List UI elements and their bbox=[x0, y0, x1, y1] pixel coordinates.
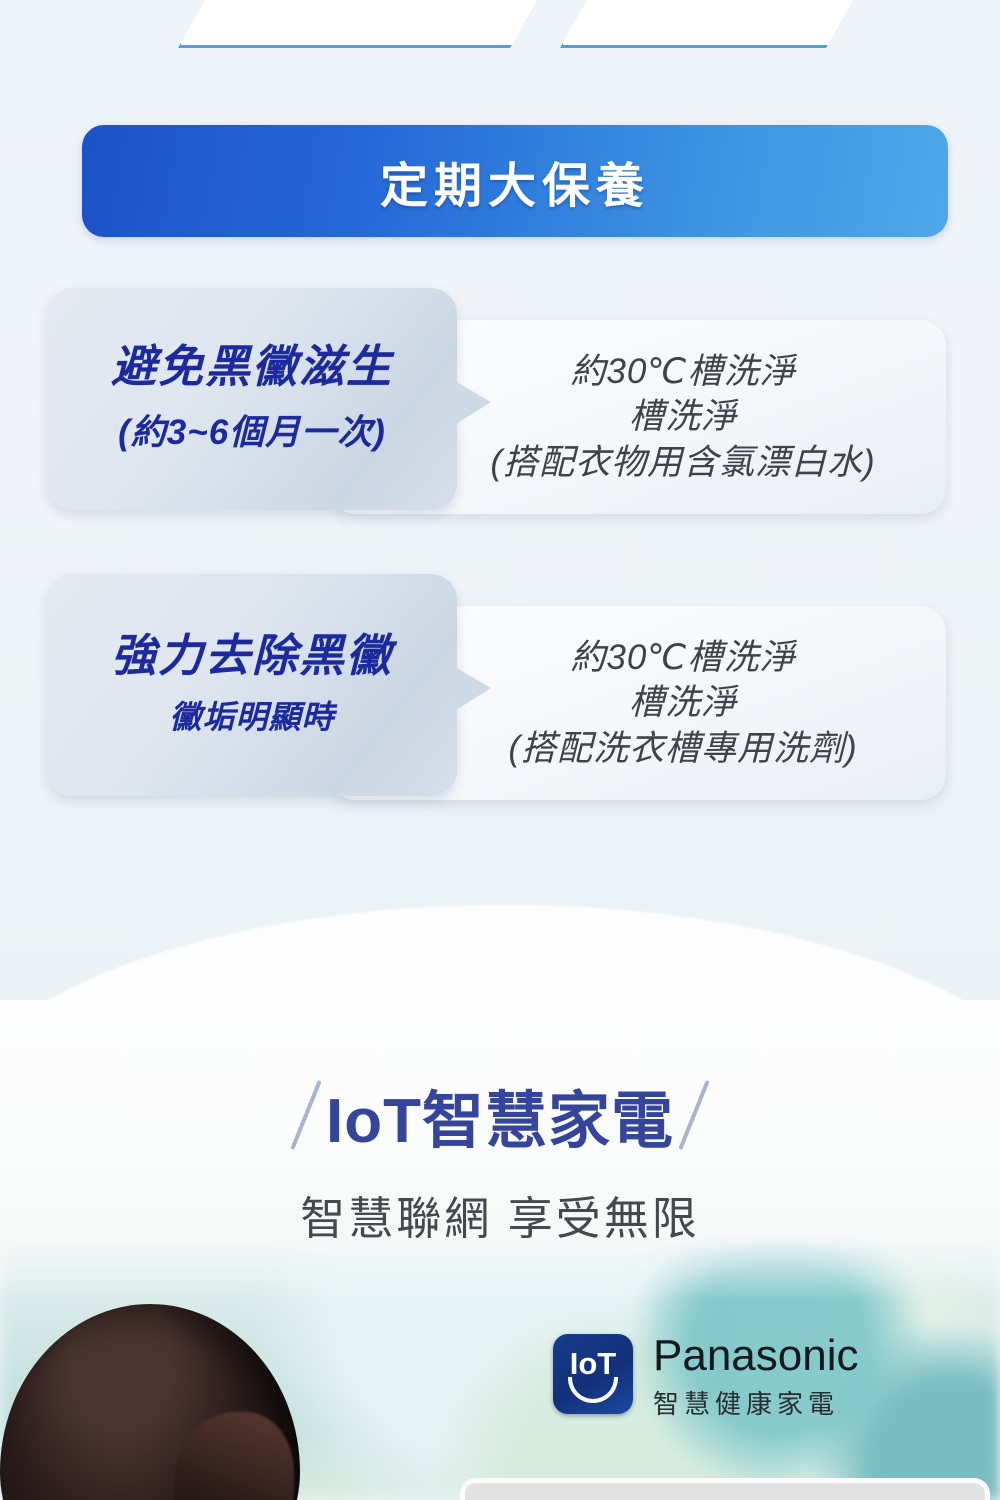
detail-line: 槽洗淨 bbox=[629, 394, 737, 440]
maintenance-title: 強力去除黑黴 bbox=[111, 632, 393, 681]
process-tab-spray-tub-wash[interactable]: 噴射槽洗行程 bbox=[178, 0, 544, 48]
iot-heading-subtitle: 智慧聯網 享受無限 bbox=[0, 1182, 1000, 1247]
brand-tagline: 智慧健康家電 bbox=[653, 1384, 858, 1421]
maintenance-row: 約30℃槽洗淨 槽洗淨 (搭配衣物用含氯漂白水) 避免黑黴滋生 (約3~6個月一… bbox=[0, 288, 1000, 540]
section-banner: 定期大保養 bbox=[82, 125, 948, 237]
iot-heading-title: IoT智慧家電 bbox=[326, 1070, 674, 1160]
maintenance-row: 約30℃槽洗淨 槽洗淨 (搭配洗衣槽專用洗劑) 強力去除黑黴 黴垢明顯時 bbox=[0, 574, 1000, 826]
section-banner-title: 定期大保養 bbox=[380, 146, 650, 216]
process-tab-wash-complete[interactable]: 洗衣完成 bbox=[560, 0, 860, 48]
maintenance-title: 避免黑黴滋生 bbox=[111, 343, 393, 392]
maintenance-subtitle: 黴垢明顯時 bbox=[169, 692, 334, 738]
detail-line: 約30℃槽洗淨 bbox=[570, 635, 795, 681]
detail-line: (搭配洗衣槽專用洗劑) bbox=[508, 726, 857, 772]
person-hair bbox=[0, 1304, 300, 1500]
smile-icon bbox=[568, 1377, 618, 1403]
detail-line: 約30℃槽洗淨 bbox=[570, 349, 795, 395]
brand-name: Panasonic bbox=[653, 1334, 858, 1378]
iot-badge-icon: IoT bbox=[553, 1334, 633, 1414]
maintenance-label-bubble: 強力去除黑黴 黴垢明顯時 bbox=[47, 574, 457, 796]
page-stage: 噴射槽洗行程 洗衣完成 定期大保養 約30℃槽洗淨 槽洗淨 (搭配衣物用含氯漂白… bbox=[0, 0, 1000, 1500]
brand-lockup: IoT Panasonic 智慧健康家電 bbox=[553, 1334, 893, 1439]
decorative-slash-right-icon bbox=[678, 1080, 709, 1150]
maintenance-subtitle: (約3~6個月一次) bbox=[118, 404, 386, 455]
iot-heading: IoT智慧家電 bbox=[0, 1075, 1000, 1155]
decorative-slash-left-icon bbox=[290, 1080, 321, 1150]
bottom-card-edge bbox=[460, 1478, 990, 1500]
detail-line: 槽洗淨 bbox=[629, 680, 737, 726]
detail-line: (搭配衣物用含氯漂白水) bbox=[490, 440, 875, 486]
person-photo bbox=[0, 1290, 340, 1500]
brand-text: Panasonic 智慧健康家電 bbox=[653, 1334, 858, 1421]
maintenance-label-bubble: 避免黑黴滋生 (約3~6個月一次) bbox=[47, 288, 457, 510]
